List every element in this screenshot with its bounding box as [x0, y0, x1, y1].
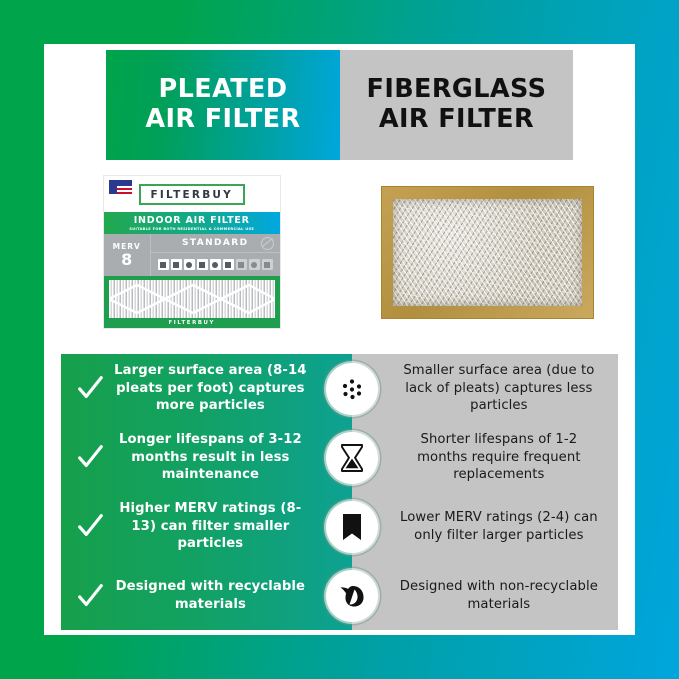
comparison-rows: Larger surface area (8-14 pleats per foo… [61, 354, 618, 630]
comparison-left-cell: Longer lifespans of 3-12 months result i… [61, 431, 352, 484]
table-row: Larger surface area (8-14 pleats per foo… [61, 354, 618, 423]
filtration-chip-row [151, 253, 280, 276]
check-icon [75, 581, 105, 611]
bookmark-icon [326, 501, 378, 553]
comparison-header: PLEATED AIR FILTER FIBERGLASS AIR FILTER [106, 50, 573, 160]
comparison-left-cell: Designed with recyclable materials [61, 578, 352, 613]
header-fiberglass-panel: FIBERGLASS AIR FILTER [340, 50, 573, 160]
leaf-icon [326, 570, 378, 622]
filterbuy-logo: FILTERBUY [139, 184, 245, 205]
comparison-right-text: Smaller surface area (due to lack of ple… [394, 362, 604, 416]
check-icon [75, 442, 105, 472]
table-row: Longer lifespans of 3-12 months result i… [61, 423, 618, 492]
header-pleated-panel: PLEATED AIR FILTER [106, 50, 340, 160]
header-fiberglass-title: FIBERGLASS AIR FILTER [367, 75, 547, 134]
comparison-right-cell: Designed with non-recyclable materials [352, 578, 618, 614]
comparison-right-text: Designed with non-recyclable materials [394, 578, 604, 614]
header-fiberglass-title-line1: FIBERGLASS [367, 75, 547, 105]
grade-row: STANDARD [151, 234, 280, 253]
pleated-filter-image: FILTERBUY INDOOR AIR FILTER SUITABLE FOR… [104, 176, 280, 328]
comparison-left-text: Larger surface area (8-14 pleats per foo… [111, 362, 310, 415]
pleated-filter-header: FILTERBUY [104, 176, 280, 212]
pleated-spec-right: STANDARD [151, 234, 280, 276]
pleated-filter-band: INDOOR AIR FILTER SUITABLE FOR BOTH RESI… [104, 212, 280, 234]
comparison-left-text: Designed with recyclable materials [111, 578, 310, 613]
check-icon [75, 373, 105, 403]
chip-mold-icon [184, 259, 195, 270]
fiberglass-mesh-texture [393, 199, 582, 306]
product-image-row: FILTERBUY INDOOR AIR FILTER SUITABLE FOR… [44, 162, 635, 342]
usa-flag-icon [109, 180, 132, 194]
pleated-band-title: INDOOR AIR FILTER [134, 215, 250, 226]
chip-virus-icon [236, 259, 247, 270]
comparison-left-text: Longer lifespans of 3-12 months result i… [111, 431, 310, 484]
pleat-support-wire-icon [109, 284, 275, 314]
pleat-texture [109, 280, 275, 318]
chip-pollen-icon [158, 259, 169, 270]
chip-voc-icon [262, 259, 273, 270]
table-row: Higher MERV ratings (8-13) can filter sm… [61, 492, 618, 561]
chip-odor-icon [249, 259, 260, 270]
pleated-footer-brand: FILTERBUY [104, 320, 280, 328]
comparison-table: Larger surface area (8-14 pleats per foo… [61, 354, 618, 630]
header-pleated-title: PLEATED AIR FILTER [145, 75, 300, 134]
check-icon [75, 511, 105, 541]
merv-value: 8 [121, 252, 132, 268]
comparison-left-cell: Higher MERV ratings (8-13) can filter sm… [61, 500, 352, 553]
header-pleated-title-line2: AIR FILTER [145, 105, 300, 135]
chip-pet-dander-icon [197, 259, 208, 270]
table-row: Designed with recyclable materials Desig… [61, 561, 618, 630]
grade-label: STANDARD [182, 238, 248, 248]
hourglass-icon [326, 432, 378, 484]
chip-dust-icon [171, 259, 182, 270]
pleated-media-area: FILTERBUY [104, 276, 280, 328]
pleated-product-cell: FILTERBUY INDOOR AIR FILTER SUITABLE FOR… [44, 162, 340, 342]
infographic-canvas: PLEATED AIR FILTER FIBERGLASS AIR FILTER [44, 44, 635, 635]
comparison-right-cell: Smaller surface area (due to lack of ple… [352, 362, 618, 416]
chip-bacteria-icon [210, 259, 221, 270]
infographic-root: PLEATED AIR FILTER FIBERGLASS AIR FILTER [0, 0, 679, 679]
particles-icon [326, 363, 378, 415]
no-entry-icon [261, 237, 274, 250]
pleated-band-subtitle: SUITABLE FOR BOTH RESIDENTIAL & COMMERCI… [129, 227, 254, 231]
comparison-left-text: Higher MERV ratings (8-13) can filter sm… [111, 500, 310, 553]
fiberglass-filter-image [381, 186, 594, 319]
fiberglass-product-cell [340, 162, 636, 342]
comparison-left-cell: Larger surface area (8-14 pleats per foo… [61, 362, 352, 415]
comparison-right-cell: Lower MERV ratings (2-4) can only filter… [352, 509, 618, 545]
comparison-right-text: Lower MERV ratings (2-4) can only filter… [394, 509, 604, 545]
chip-smoke-icon [223, 259, 234, 270]
header-fiberglass-title-line2: AIR FILTER [367, 105, 547, 135]
comparison-right-text: Shorter lifespans of 1-2 months require … [394, 431, 604, 485]
header-pleated-title-line1: PLEATED [145, 75, 300, 105]
filterbuy-logo-text: FILTERBUY [151, 189, 233, 201]
merv-rating-block: MERV 8 [104, 234, 151, 276]
pleated-spec-strip: MERV 8 STANDARD [104, 234, 280, 276]
comparison-right-cell: Shorter lifespans of 1-2 months require … [352, 431, 618, 485]
